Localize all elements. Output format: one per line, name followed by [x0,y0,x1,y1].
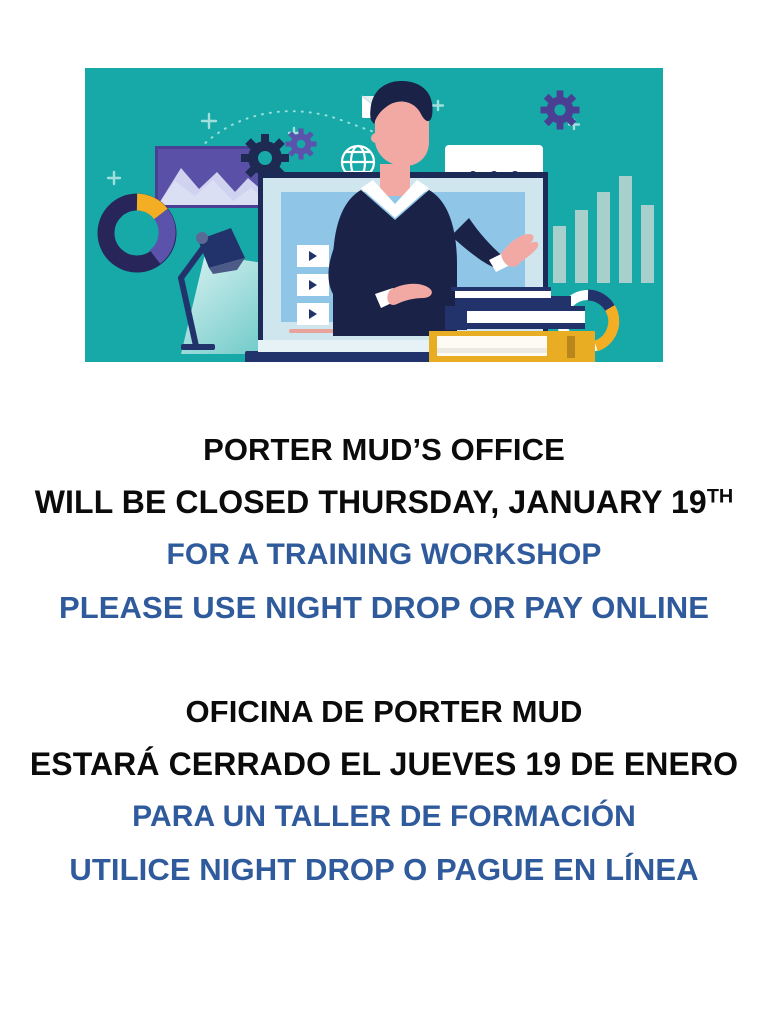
english-line-2-text: WILL BE CLOSED THURSDAY, JANUARY 19 [35,484,707,520]
english-message-block: PORTER MUD’S OFFICE WILL BE CLOSED THURS… [0,424,768,634]
english-line-4: PLEASE USE NIGHT DROP OR PAY ONLINE [0,581,768,634]
notice-text-area: PORTER MUD’S OFFICE WILL BE CLOSED THURS… [0,424,768,896]
english-line-1: PORTER MUD’S OFFICE [0,424,768,476]
gear-small [286,129,317,160]
spanish-line-3: PARA UN TALLER DE FORMACIÓN [0,790,768,843]
spanish-line-2: ESTARÁ CERRADO EL JUEVES 19 DE ENERO [0,738,768,790]
english-line-2: WILL BE CLOSED THURSDAY, JANUARY 19TH [0,476,768,528]
spanish-line-1: OFICINA DE PORTER MUD [0,686,768,738]
spanish-message-block: OFICINA DE PORTER MUD ESTARÁ CERRADO EL … [0,686,768,896]
gear-top-right [541,91,580,130]
ordinal-suffix-th: TH [707,486,733,508]
online-training-illustration [85,68,663,362]
closure-notice-poster: PORTER MUD’S OFFICE WILL BE CLOSED THURS… [0,0,768,1024]
illustration-container [85,68,663,362]
video-play-thumbnails [297,245,329,325]
spanish-line-4: UTILICE NIGHT DROP O PAGUE EN LÍNEA [0,843,768,896]
block-separator [0,634,768,686]
english-line-3: FOR A TRAINING WORKSHOP [0,528,768,581]
